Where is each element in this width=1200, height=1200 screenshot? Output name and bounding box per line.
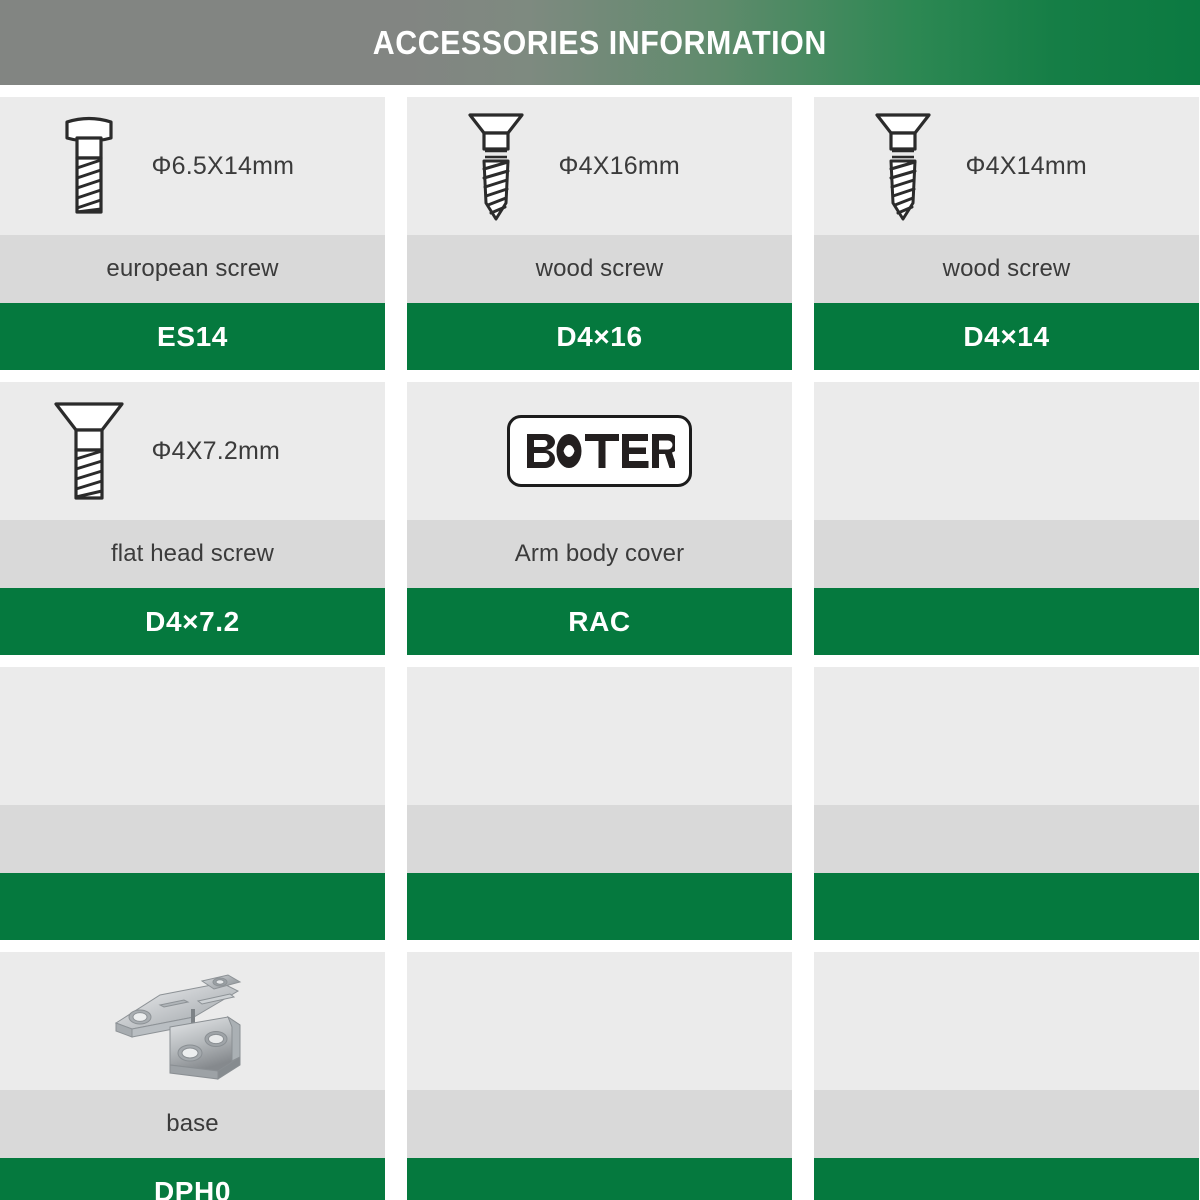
accessory-dimension: Φ4X16mm bbox=[559, 152, 759, 181]
accessory-card[interactable]: baseDPH0 bbox=[0, 952, 385, 1200]
accessory-media bbox=[407, 952, 792, 1090]
accessory-label: wood screw bbox=[943, 255, 1071, 283]
accessory-media-inner bbox=[0, 667, 385, 805]
accessory-label-band: wood screw bbox=[407, 235, 792, 303]
accessory-card[interactable] bbox=[407, 667, 792, 940]
accessory-label-band: flat head screw bbox=[0, 520, 385, 588]
accessory-media bbox=[407, 667, 792, 805]
accessory-media bbox=[814, 667, 1199, 805]
accessory-card[interactable] bbox=[814, 952, 1199, 1200]
accessory-card[interactable] bbox=[0, 667, 385, 940]
accessory-media-inner bbox=[814, 382, 1199, 520]
accessory-label-band bbox=[407, 1090, 792, 1158]
accessories-information-page: ACCESSORIES INFORMATION Φ6.5X14mmeuropea… bbox=[0, 0, 1200, 1200]
accessory-label: european screw bbox=[106, 255, 278, 283]
accessory-media-inner bbox=[407, 667, 792, 805]
flat-head-screw-icon bbox=[50, 396, 128, 506]
accessory-media-inner: Φ6.5X14mm bbox=[0, 97, 385, 235]
accessory-code-band bbox=[814, 1158, 1199, 1200]
accessory-media-inner: Φ4X14mm bbox=[814, 97, 1199, 235]
accessory-media-inner bbox=[0, 952, 385, 1090]
accessory-dimension: Φ4X14mm bbox=[966, 152, 1166, 181]
accessory-media-inner bbox=[814, 667, 1199, 805]
accessory-media-inner bbox=[814, 952, 1199, 1090]
accessory-media bbox=[0, 667, 385, 805]
wood-screw-icon bbox=[867, 107, 939, 225]
accessory-label: base bbox=[166, 1110, 218, 1138]
accessory-media-inner bbox=[407, 952, 792, 1090]
accessory-dimension: Φ6.5X14mm bbox=[152, 152, 352, 181]
accessory-code-band bbox=[0, 873, 385, 940]
page-title: ACCESSORIES INFORMATION bbox=[373, 24, 827, 62]
accessory-illustration bbox=[98, 961, 288, 1081]
accessory-code-band: ES14 bbox=[0, 303, 385, 370]
accessory-media-inner bbox=[407, 382, 792, 520]
accessory-code: D4×16 bbox=[556, 321, 642, 353]
accessory-card[interactable] bbox=[814, 667, 1199, 940]
accessory-card[interactable]: Φ4X16mmwood screwD4×16 bbox=[407, 97, 792, 370]
accessory-illustration bbox=[848, 107, 958, 225]
accessory-card[interactable] bbox=[407, 952, 792, 1200]
accessory-illustration bbox=[441, 107, 551, 225]
accessory-label-band bbox=[0, 805, 385, 873]
accessory-code: D4×7.2 bbox=[145, 606, 240, 638]
accessory-label-band bbox=[814, 805, 1199, 873]
pan-head-screw-icon bbox=[53, 110, 125, 222]
wood-screw-icon bbox=[460, 107, 532, 225]
accessory-code-band bbox=[407, 873, 792, 940]
accessory-label: Arm body cover bbox=[515, 540, 684, 568]
accessory-media bbox=[814, 952, 1199, 1090]
accessory-label: flat head screw bbox=[111, 540, 274, 568]
accessory-label-band bbox=[814, 1090, 1199, 1158]
accessory-illustration bbox=[507, 415, 692, 487]
accessory-code-band bbox=[407, 1158, 792, 1200]
page-header: ACCESSORIES INFORMATION bbox=[0, 0, 1200, 85]
accessory-label-band: european screw bbox=[0, 235, 385, 303]
accessory-code: DPH0 bbox=[154, 1176, 231, 1200]
accessory-illustration bbox=[34, 396, 144, 506]
accessory-code-band bbox=[814, 588, 1199, 655]
accessory-code-band bbox=[814, 873, 1199, 940]
accessory-media bbox=[814, 382, 1199, 520]
accessory-media: Φ4X16mm bbox=[407, 97, 792, 235]
accessory-label-band bbox=[407, 805, 792, 873]
accessory-card[interactable]: Φ4X7.2mmflat head screwD4×7.2 bbox=[0, 382, 385, 655]
accessory-media: Φ4X7.2mm bbox=[0, 382, 385, 520]
accessory-media: Φ4X14mm bbox=[814, 97, 1199, 235]
accessory-media bbox=[0, 952, 385, 1090]
hinge-base-plate-image bbox=[98, 961, 288, 1081]
accessory-media: Φ6.5X14mm bbox=[0, 97, 385, 235]
accessory-card[interactable] bbox=[814, 382, 1199, 655]
accessory-card[interactable]: Φ6.5X14mmeuropean screwES14 bbox=[0, 97, 385, 370]
accessory-code-band: D4×14 bbox=[814, 303, 1199, 370]
accessory-code: D4×14 bbox=[963, 321, 1049, 353]
accessory-code: RAC bbox=[568, 606, 630, 638]
boter-wordmark-icon bbox=[525, 431, 675, 471]
accessory-illustration bbox=[34, 110, 144, 222]
accessories-grid: Φ6.5X14mmeuropean screwES14 Φ4X16mmwood … bbox=[0, 97, 1200, 1200]
accessory-label: wood screw bbox=[536, 255, 664, 283]
accessory-code-band: DPH0 bbox=[0, 1158, 385, 1200]
accessory-label-band: Arm body cover bbox=[407, 520, 792, 588]
boter-logo bbox=[507, 415, 692, 487]
accessory-card[interactable]: Arm body coverRAC bbox=[407, 382, 792, 655]
accessory-media-inner: Φ4X16mm bbox=[407, 97, 792, 235]
accessory-card[interactable]: Φ4X14mmwood screwD4×14 bbox=[814, 97, 1199, 370]
accessory-label-band: base bbox=[0, 1090, 385, 1158]
accessory-code-band: D4×7.2 bbox=[0, 588, 385, 655]
accessory-label-band bbox=[814, 520, 1199, 588]
accessory-dimension: Φ4X7.2mm bbox=[152, 437, 352, 466]
accessory-media-inner: Φ4X7.2mm bbox=[0, 382, 385, 520]
accessory-code-band: D4×16 bbox=[407, 303, 792, 370]
accessory-media bbox=[407, 382, 792, 520]
accessory-code-band: RAC bbox=[407, 588, 792, 655]
accessory-code: ES14 bbox=[157, 321, 228, 353]
accessory-label-band: wood screw bbox=[814, 235, 1199, 303]
